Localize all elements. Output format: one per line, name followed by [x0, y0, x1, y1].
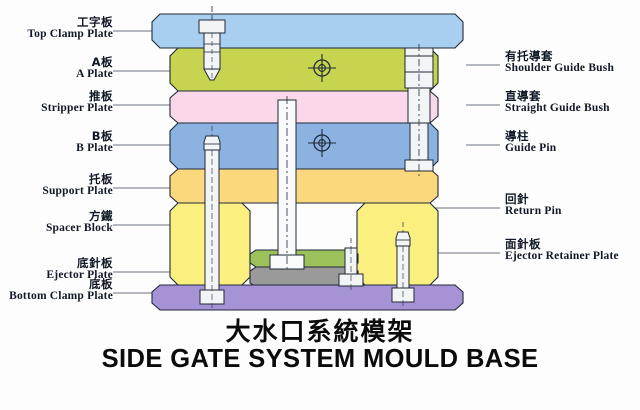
label-shoulder-guide-bush-en: Shoulder Guide Bush [505, 63, 614, 75]
title-chinese: 大水口系統模架 [0, 312, 640, 348]
label-guide-pin: 導柱 Guide Pin [505, 131, 556, 154]
return-pin-head [204, 136, 220, 150]
label-bottom-clamp-plate: 底板 Bottom Clamp Plate [0, 279, 113, 302]
label-stripper-plate: 推板 Stripper Plate [0, 91, 113, 114]
label-b-plate-en: B Plate [0, 143, 113, 155]
label-return-pin: 回針 Return Pin [505, 194, 562, 217]
label-return-pin-en: Return Pin [505, 206, 562, 218]
label-stripper-plate-en: Stripper Plate [0, 103, 113, 115]
label-guide-pin-cn: 導柱 [505, 131, 556, 143]
label-spacer-block-en: Spacer Block [0, 223, 113, 235]
label-spacer-block-cn: 方鐵 [0, 211, 113, 223]
label-spacer-block: 方鐵 Spacer Block [0, 211, 113, 234]
label-ejector-retainer-plate-en: Ejector Retainer Plate [505, 251, 619, 263]
label-bottom-clamp-plate-cn: 底板 [0, 279, 113, 291]
label-shoulder-guide-bush-cn: 有托導套 [505, 51, 614, 63]
label-straight-guide-bush-cn: 直導套 [505, 91, 610, 103]
label-return-pin-cn: 回針 [505, 194, 562, 206]
label-b-plate: B板 B Plate [0, 131, 113, 154]
label-support-plate-en: Support Plate [0, 186, 113, 198]
label-stripper-plate-cn: 推板 [0, 91, 113, 103]
bolt-head [199, 20, 225, 33]
label-top-clamp-plate: 工字板 Top Clamp Plate [0, 17, 113, 40]
part-stripper-plate [170, 91, 438, 123]
return-pin-right-head [396, 232, 410, 246]
label-shoulder-guide-bush: 有托導套 Shoulder Guide Bush [505, 51, 614, 74]
label-straight-guide-bush: 直導套 Straight Guide Bush [505, 91, 610, 114]
part-bottom-clamp-plate [152, 285, 463, 310]
label-a-plate-cn: A板 [0, 57, 113, 69]
mould-base-diagram: 工字板 Top Clamp Plate A板 A Plate 推板 Stripp… [0, 0, 640, 410]
label-bottom-clamp-plate-en: Bottom Clamp Plate [0, 291, 113, 303]
label-a-plate: A板 A Plate [0, 57, 113, 80]
label-b-plate-cn: B板 [0, 131, 113, 143]
label-straight-guide-bush-en: Straight Guide Bush [505, 103, 610, 115]
title-english: SIDE GATE SYSTEM MOULD BASE [0, 345, 640, 374]
label-top-clamp-plate-en: Top Clamp Plate [0, 29, 113, 41]
label-ejector-retainer-plate: 面針板 Ejector Retainer Plate [505, 239, 619, 262]
label-guide-pin-en: Guide Pin [505, 143, 556, 155]
label-top-clamp-plate-cn: 工字板 [0, 17, 113, 29]
label-a-plate-en: A Plate [0, 69, 113, 81]
label-support-plate-cn: 托板 [0, 174, 113, 186]
label-ejector-retainer-plate-cn: 面針板 [505, 239, 619, 251]
label-support-plate: 托板 Support Plate [0, 174, 113, 197]
label-ejector-plate-cn: 底針板 [0, 258, 113, 270]
